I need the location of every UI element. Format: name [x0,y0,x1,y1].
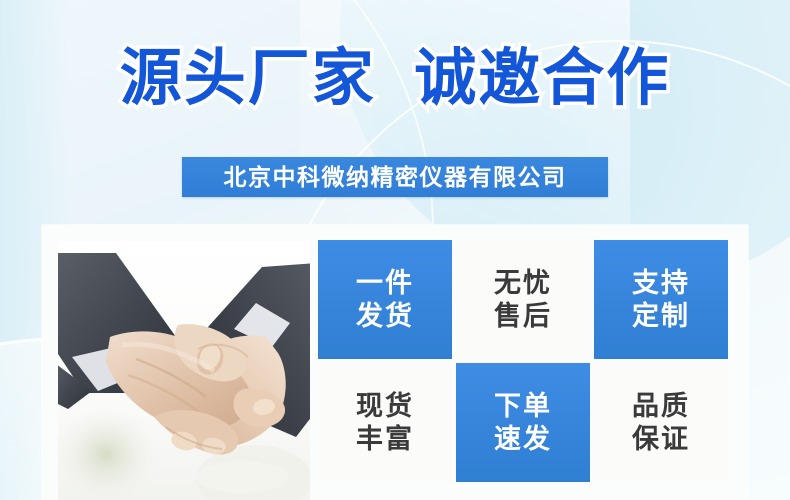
feature-cell-0-line2: 发货 [356,300,414,333]
feature-cell-4-line2: 速发 [494,423,552,456]
feature-cell-2-line2: 定制 [632,300,690,333]
feature-cell-1-line1: 无忧 [494,267,552,300]
feature-cell-5-line2: 保证 [632,423,690,456]
handshake-photo [58,241,310,500]
feature-cell-4[interactable]: 下单 速发 [456,363,590,482]
soft-gradient-band [300,0,630,250]
feature-cell-1[interactable]: 无忧 售后 [456,240,590,359]
feature-cell-3-line2: 丰富 [356,423,414,456]
feature-cell-5-line1: 品质 [632,390,690,423]
feature-cell-2-line1: 支持 [632,267,690,300]
feature-cell-2[interactable]: 支持 定制 [594,240,728,359]
feature-cell-0-line1: 一件 [356,267,414,300]
feature-cell-3-line1: 现货 [356,390,414,423]
company-name-label: 北京中科微纳精密仪器有限公司 [224,166,567,189]
page-title: 源头厂家 诚邀合作 [0,42,790,116]
handshake-illustration [58,241,310,500]
company-name-bar: 北京中科微纳精密仪器有限公司 [182,157,608,197]
feature-cell-3[interactable]: 现货 丰富 [318,363,452,482]
promo-banner: 源头厂家 诚邀合作 北京中科微纳精密仪器有限公司 [0,0,790,500]
feature-cell-1-line2: 售后 [494,300,552,333]
feature-grid: 一件 发货 无忧 售后 支持 定制 现货 丰富 下单 速发 品质 保证 [318,240,728,482]
feature-cell-5[interactable]: 品质 保证 [594,363,728,482]
feature-cell-4-line1: 下单 [494,390,552,423]
feature-cell-0[interactable]: 一件 发货 [318,240,452,359]
